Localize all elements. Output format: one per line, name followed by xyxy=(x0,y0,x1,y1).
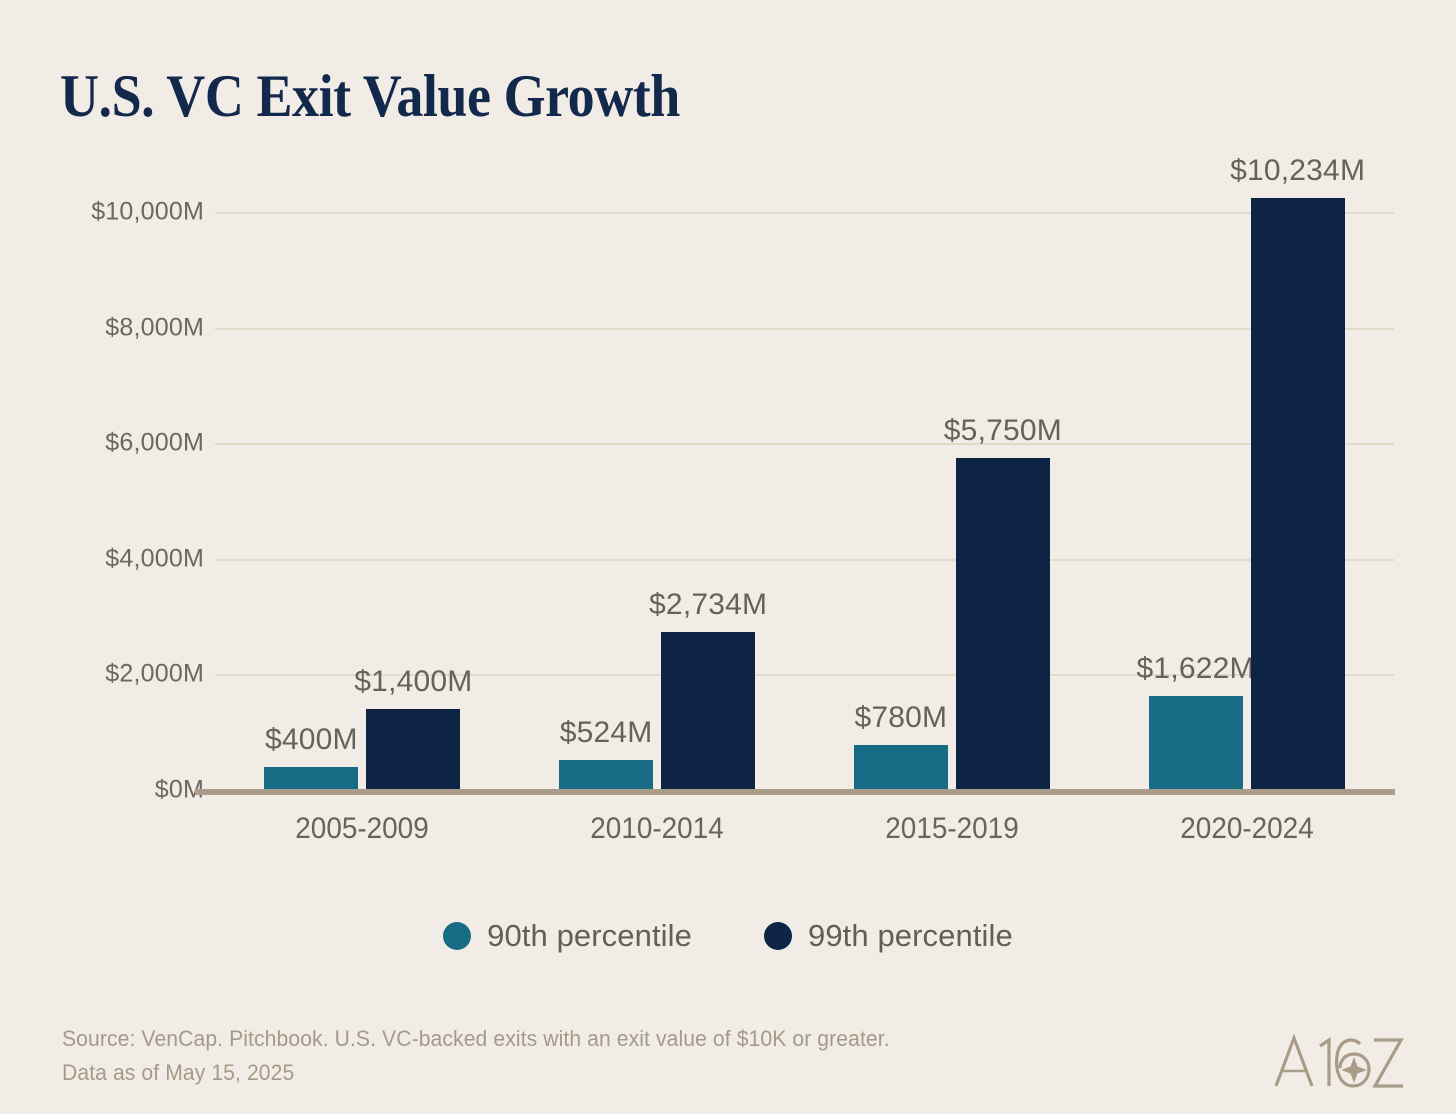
legend-swatch-icon xyxy=(764,922,792,950)
chart-legend: 90th percentile99th percentile xyxy=(0,918,1456,954)
bar-p90[interactable]: $1,622M xyxy=(1149,696,1243,790)
legend-swatch-icon xyxy=(443,922,471,950)
bar-value-label: $524M xyxy=(560,716,653,750)
a16z-logo-icon xyxy=(1268,1026,1408,1096)
bar-p99[interactable]: $10,234M xyxy=(1251,198,1345,790)
source-note-line-2: Data as of May 15, 2025 xyxy=(62,1056,890,1090)
bar-value-label: $5,750M xyxy=(944,414,1062,448)
y-axis-tick-label: $2,000M xyxy=(24,660,204,689)
bar-value-label: $400M xyxy=(265,723,358,757)
gridline xyxy=(215,328,1394,330)
y-axis-tick-label: $8,000M xyxy=(24,313,204,342)
legend-label: 90th percentile xyxy=(487,918,692,954)
source-note-line-1: Source: VenCap. Pitchbook. U.S. VC-backe… xyxy=(62,1022,890,1056)
plot-area: $400M$1,400M$524M$2,734M$780M$5,750M$1,6… xyxy=(215,212,1394,790)
legend-label: 99th percentile xyxy=(808,918,1013,954)
bar-value-label: $1,622M xyxy=(1137,652,1255,686)
legend-item[interactable]: 90th percentile xyxy=(443,918,692,954)
bar-p99[interactable]: $5,750M xyxy=(956,458,1050,790)
legend-item[interactable]: 99th percentile xyxy=(764,918,1013,954)
y-axis-tick-label: $10,000M xyxy=(24,198,204,227)
x-axis-tick-label: 2015-2019 xyxy=(812,812,1091,846)
gridline xyxy=(215,212,1394,214)
bar-p99[interactable]: $2,734M xyxy=(661,632,755,790)
source-note: Source: VenCap. Pitchbook. U.S. VC-backe… xyxy=(62,1022,890,1090)
x-axis-tick-label: 2010-2014 xyxy=(518,812,797,846)
y-axis-tick-label: $6,000M xyxy=(24,429,204,458)
gridline xyxy=(215,443,1394,445)
x-axis-tick-label: 2020-2024 xyxy=(1107,812,1386,846)
bar-p90[interactable]: $780M xyxy=(854,745,948,790)
bar-p90[interactable]: $524M xyxy=(559,760,653,790)
bar-value-label: $1,400M xyxy=(354,665,472,699)
x-axis-tick-label: 2005-2009 xyxy=(223,812,502,846)
gridline xyxy=(215,559,1394,561)
y-axis-tick-label: $4,000M xyxy=(24,544,204,573)
bar-p99[interactable]: $1,400M xyxy=(366,709,460,790)
y-axis-tick-label: $0M xyxy=(24,776,204,805)
chart-figure: U.S. VC Exit Value Growth $0M$2,000M$4,0… xyxy=(0,0,1456,1114)
page-title: U.S. VC Exit Value Growth xyxy=(60,62,680,130)
bar-value-label: $2,734M xyxy=(649,588,767,622)
x-axis-baseline xyxy=(195,789,1395,795)
bar-value-label: $780M xyxy=(855,701,948,735)
bar-value-label: $10,234M xyxy=(1230,154,1365,188)
bar-p90[interactable]: $400M xyxy=(264,767,358,790)
